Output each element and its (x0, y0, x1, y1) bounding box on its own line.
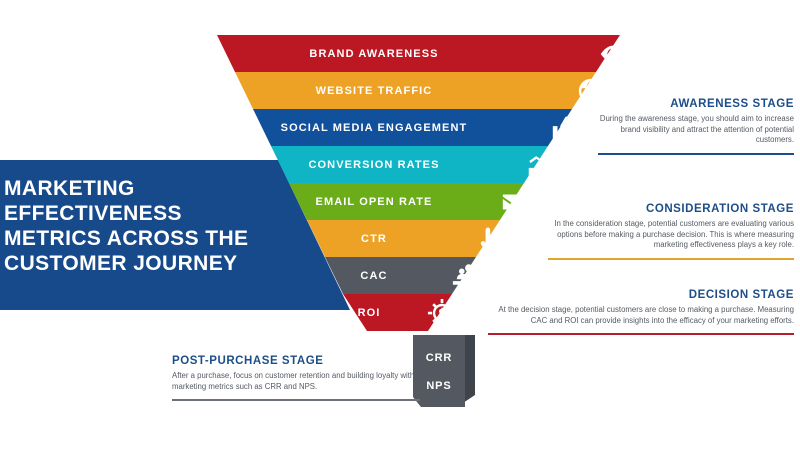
stage-title: CONSIDERATION STAGE (548, 203, 794, 215)
funnel-layer-website-traffic[interactable]: WEBSITE TRAFFIC (200, 72, 620, 109)
stage-title: DECISION STAGE (488, 289, 794, 301)
stem-label-crr: CRR (413, 352, 465, 364)
funnel-layer-label: WEBSITE TRAFFIC (200, 72, 620, 109)
stage-note-post-purchase: POST-PURCHASE STAGE After a purchase, fo… (172, 355, 420, 401)
funnel-stem[interactable]: CRR NPS (413, 335, 475, 415)
funnel-layer-label: CONVERSION RATES (200, 146, 620, 183)
stage-body: After a purchase, focus on customer rete… (172, 371, 420, 392)
hand-people-icon (451, 261, 481, 291)
target-money-icon (427, 298, 457, 328)
funnel-layer-brand-awareness[interactable]: BRAND AWARENESS (200, 35, 620, 72)
thumbs-up-icon (550, 113, 580, 143)
stage-note-consideration: CONSIDERATION STAGE In the consideration… (548, 203, 794, 260)
bar-chart-icon (525, 150, 555, 180)
stage-note-awareness: AWARENESS STAGE During the awareness sta… (598, 98, 794, 155)
stem-face (413, 335, 465, 415)
stage-divider (548, 258, 794, 260)
stage-title: AWARENESS STAGE (598, 98, 794, 110)
funnel-layer-conversion-rates[interactable]: CONVERSION RATES (200, 146, 620, 183)
stage-divider (488, 333, 794, 335)
eye-icon (598, 39, 628, 69)
stage-note-decision: DECISION STAGE At the decision stage, po… (488, 289, 794, 335)
stage-divider (598, 153, 794, 155)
stage-body: During the awareness stage, you should a… (598, 114, 794, 146)
stem-label-nps: NPS (413, 380, 465, 392)
stage-body: At the decision stage, potential custome… (488, 305, 794, 326)
infographic-canvas: MARKETING EFFECTIVENESS METRICS ACROSS T… (0, 0, 800, 450)
stage-body: In the consideration stage, potential cu… (548, 219, 794, 251)
stage-divider (172, 399, 420, 401)
envelope-icon (500, 187, 530, 217)
funnel-layer-label: BRAND AWARENESS (200, 35, 620, 72)
funnel-layer-social-media-engagement[interactable]: SOCIAL MEDIA ENGAGEMENT (200, 109, 620, 146)
stage-title: POST-PURCHASE STAGE (172, 355, 420, 367)
click-hand-icon (475, 224, 505, 254)
